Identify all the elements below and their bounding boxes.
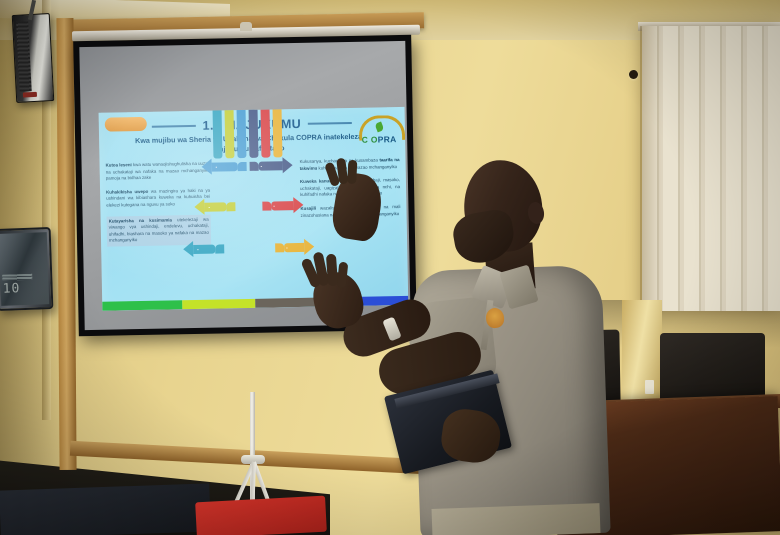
light-switch[interactable]: [645, 380, 654, 394]
presenter: [380, 150, 640, 535]
arrow-stem: [260, 107, 271, 158]
red-equipment-case: [195, 496, 327, 535]
arrow-elbow: [238, 162, 247, 171]
wall-clock-display: 10: [0, 227, 53, 311]
dark-equipment-bag: [0, 483, 211, 535]
logo-text-co: C O: [362, 134, 378, 144]
blinds-shadow: [640, 26, 662, 311]
title-rule-right: [308, 122, 352, 125]
rules-icon: ▪: [273, 203, 275, 208]
hand-finger: [347, 160, 357, 184]
paragraph-lead: Kuhakikisha uwepo: [106, 189, 148, 195]
bar-green: [102, 300, 182, 311]
arrow-diagram: ▪▪▪▪▪▪: [209, 157, 300, 299]
vertical-blinds[interactable]: [642, 26, 780, 311]
arrow-elbow: [226, 202, 235, 211]
conference-room-photo: 10 1.2 MAJUKUMU Kwa mujibu wa Sheria ya …: [0, 0, 780, 535]
title-rule-left: [152, 125, 196, 128]
license-icon: ▪: [216, 165, 218, 170]
arrow-elbow: [250, 162, 259, 171]
arrow-head: [304, 239, 314, 255]
arrow-stem: [211, 107, 222, 159]
logo-text: C OPRA: [357, 134, 401, 145]
arrow-arm: [259, 161, 283, 170]
arrow-stem: [272, 107, 282, 158]
wall-speaker: [12, 13, 55, 103]
bar-lime: [182, 299, 256, 309]
copra-logo: C OPRA: [357, 113, 402, 148]
arrow-head: [201, 159, 211, 175]
slide-paragraph: Kutoa leseni kwa watu wanaojishughulisha…: [106, 161, 210, 183]
clock-label-lines: [2, 274, 32, 281]
projector-screen: 1.2 MAJUKUMU Kwa mujibu wa Sheria ya Usa…: [73, 35, 417, 336]
screen-pull-knob[interactable]: [240, 22, 252, 31]
arrow-stem: [224, 107, 235, 158]
arrow-head: [194, 199, 204, 215]
arrow-stem: [247, 107, 258, 158]
arrow-head: [183, 241, 193, 257]
trousers: [432, 503, 601, 535]
paragraph-lead: Kutayarisha na kusimamia: [109, 217, 172, 223]
slide-paragraph: Kutayarisha na kusimamia utekelezaji wa …: [107, 214, 212, 246]
speaker-grill: [16, 21, 32, 92]
data-icon: ▪: [261, 164, 263, 169]
register-icon: ▪: [286, 245, 288, 250]
paragraph-lead: Kuweka kanuni: [300, 179, 333, 185]
paragraph-lead: Kutoa leseni: [106, 162, 132, 168]
clock-digits: 10: [2, 281, 20, 297]
arrow-head: [293, 197, 303, 213]
arrow-elbow: [262, 201, 271, 210]
arrow-head: [282, 157, 292, 173]
speaker-badge: [23, 92, 37, 98]
standards-icon: ▪: [197, 247, 199, 252]
arrow-elbow: [215, 244, 224, 253]
logo-text-pra: PRA: [378, 134, 397, 144]
wall-hole-dot: [629, 70, 638, 79]
screen-surface: 1.2 MAJUKUMU Kwa mujibu wa Sheria ya Usa…: [79, 41, 410, 330]
arrow-elbow: [275, 243, 284, 252]
balance-icon: ▪: [208, 205, 210, 210]
arrow-stem: [235, 107, 246, 158]
